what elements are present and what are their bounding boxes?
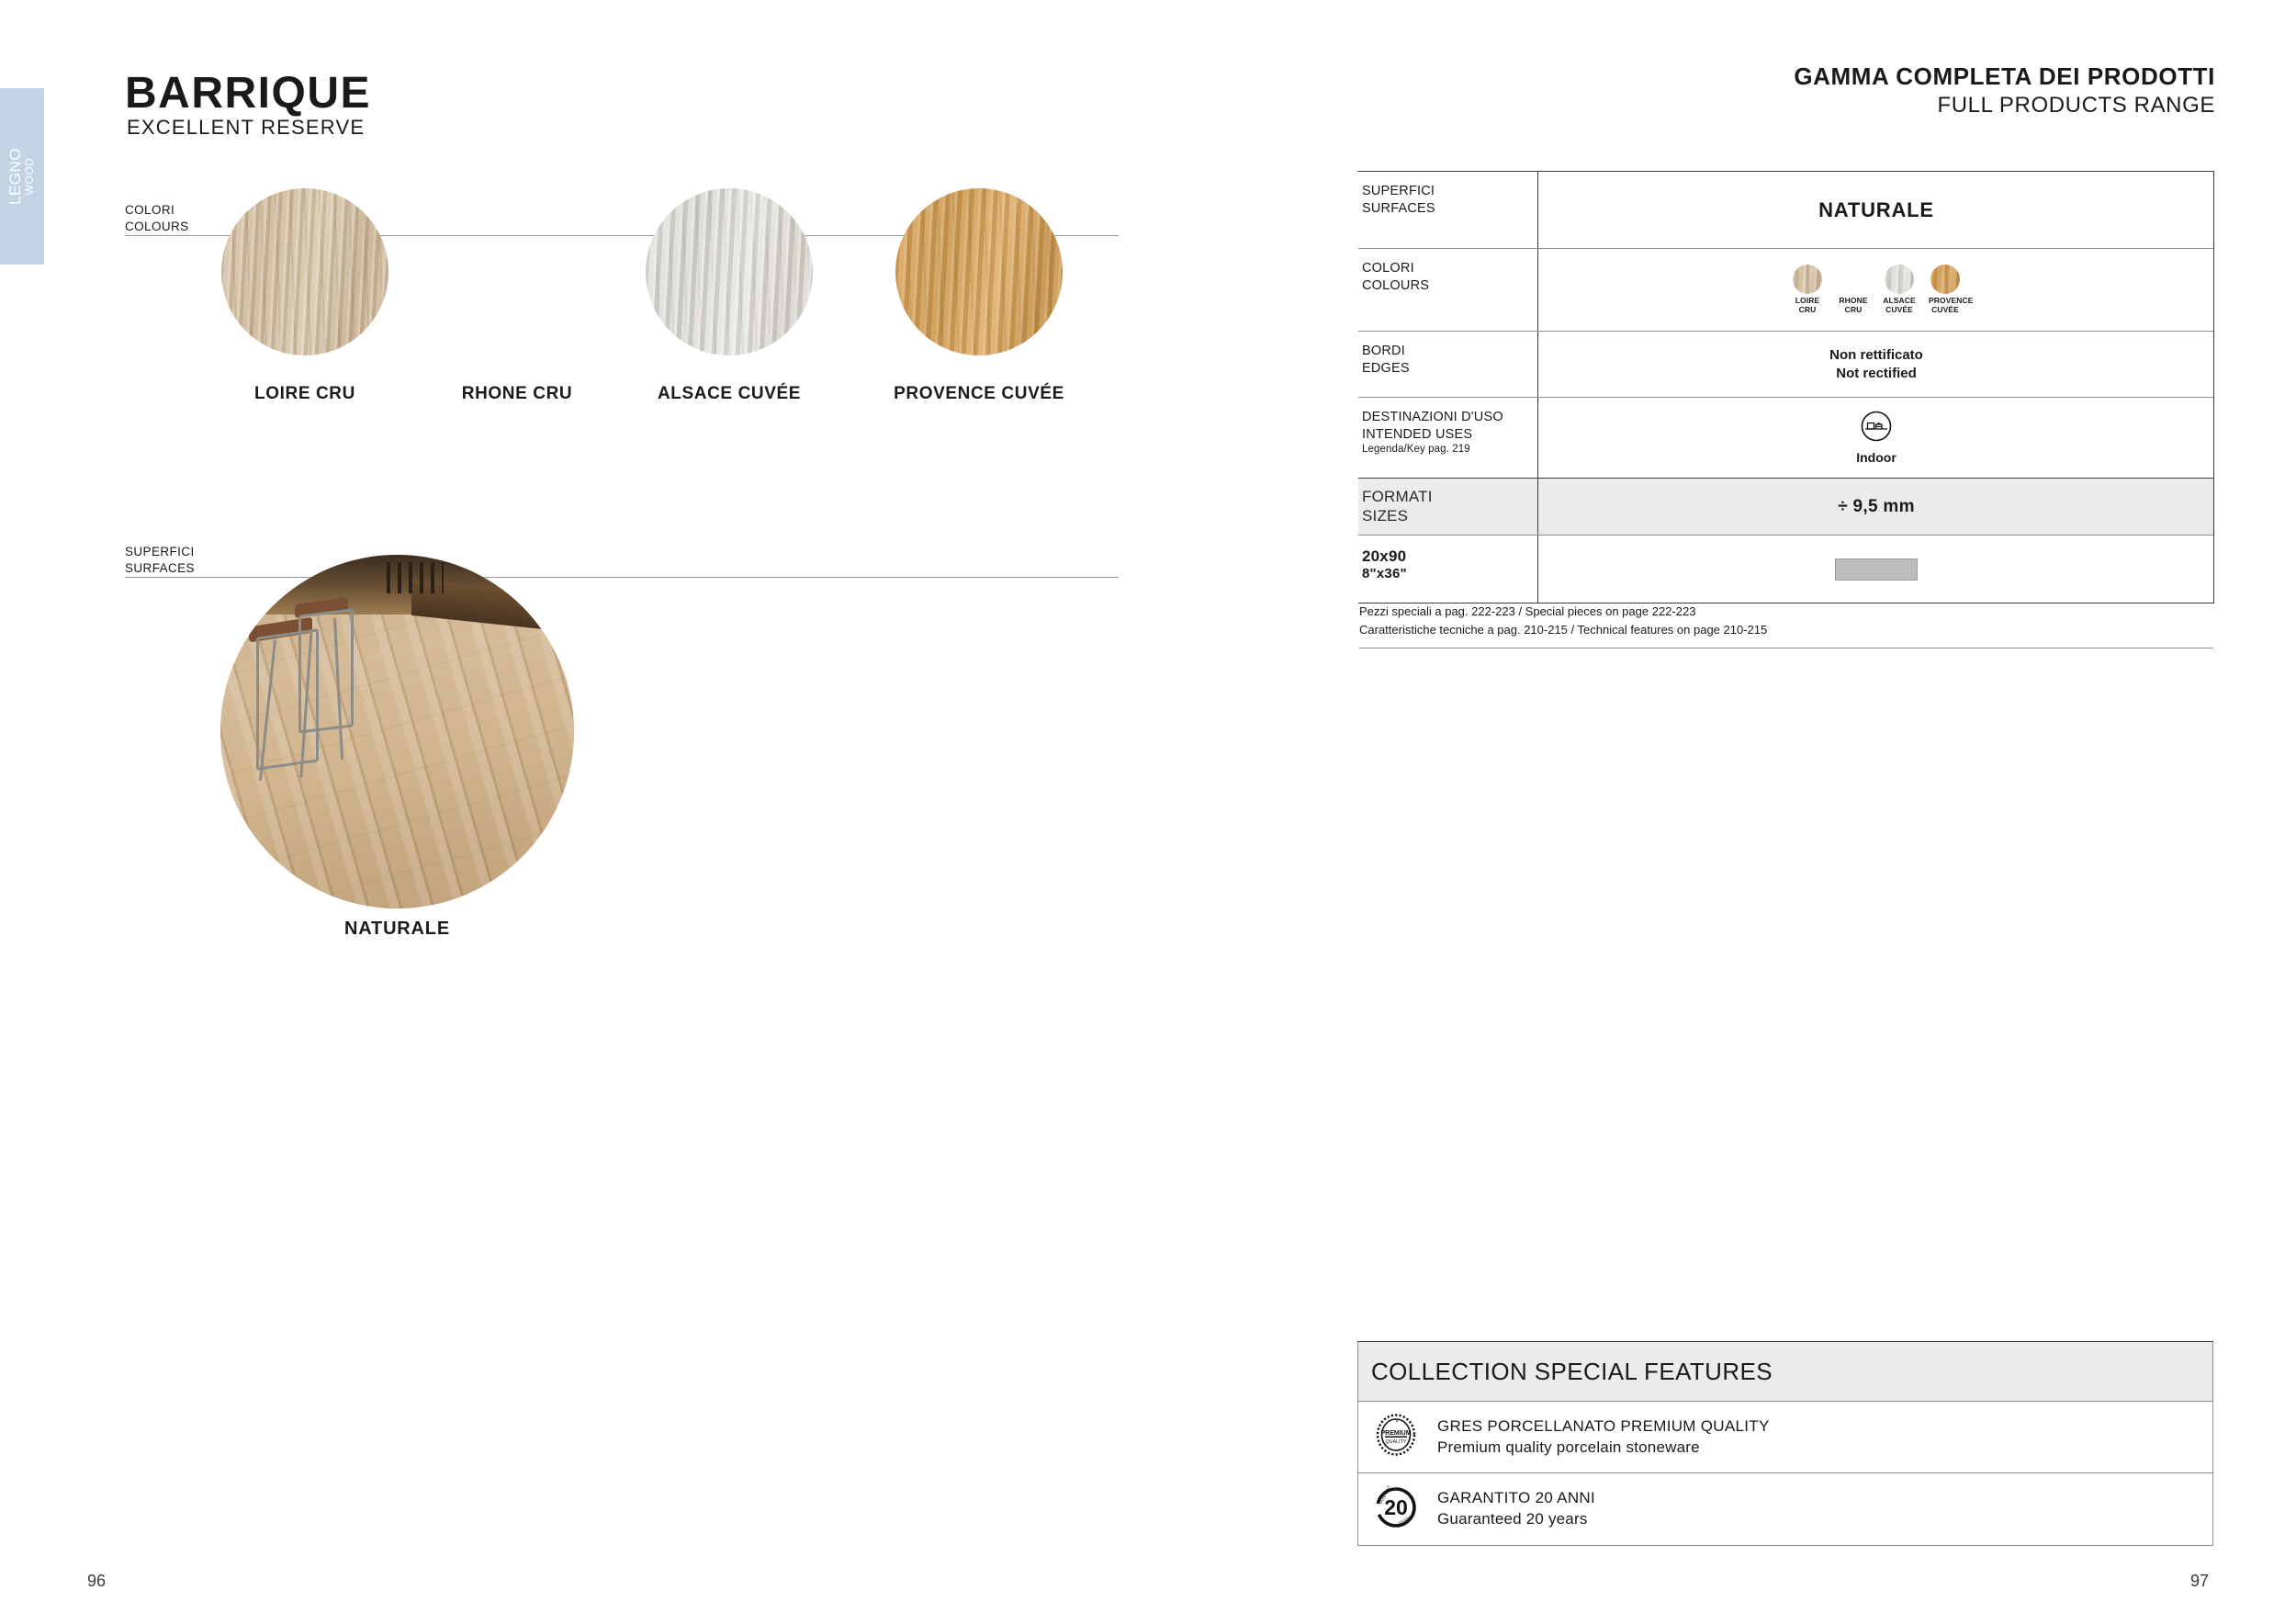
colour-caption-rhone-cru: RHONE CRU: [411, 384, 623, 404]
colours-section-label: COLORI COLOURS: [125, 202, 189, 235]
table-value-intended-uses: Indoor: [1538, 398, 2214, 478]
colour-swatch-provence-cuvee: [895, 188, 1063, 355]
table-footnotes: Pezzi speciali a pag. 222-223 / Special …: [1359, 603, 2213, 648]
table-label-surfaces: SUPERFICI SURFACES: [1358, 172, 1538, 248]
feature-row-guarantee-20-years: 20 GUARANTEE YEARS GARANTITO 20 ANNI Gua…: [1358, 1473, 2212, 1545]
feature-title-en: Premium quality porcelain stoneware: [1437, 1438, 1770, 1459]
mini-swatch-alsace-cuvee: ALSACE CUVÉE: [1883, 265, 1916, 315]
footnote-technical-features: Caratteristiche tecniche a pag. 210-215 …: [1359, 621, 2213, 639]
catalog-spread: LEGNO WOOD BARRIQUE EXCELLENT RESERVE CO…: [0, 0, 2296, 1624]
products-range-title-it: GAMMA COMPLETA DEI PRODOTTI: [1794, 62, 2215, 91]
table-label-size: 20x90 8"x36": [1358, 536, 1538, 603]
table-value-size-bar: [1538, 536, 2214, 603]
size-format-bar: [1835, 558, 1918, 581]
indoor-icon: [1861, 411, 1892, 446]
table-row-edges: BORDI EDGES Non rettificato Not rectifie…: [1358, 332, 2214, 398]
indoor-label: Indoor: [1856, 450, 1896, 465]
feature-title-en: Guaranteed 20 years: [1437, 1509, 1595, 1530]
mini-swatch-dot: [1793, 265, 1822, 294]
svg-text:PREMIUM: PREMIUM: [1380, 1430, 1411, 1437]
svg-text:QUALITY: QUALITY: [1385, 1439, 1406, 1445]
table-value-colours: LOIRE CRU RHONE CRU ALSACE CUVÉE: [1538, 249, 2214, 331]
page-number-right: 97: [2190, 1572, 2209, 1591]
surface-photo-naturale: [220, 555, 574, 908]
table-row-size-20x90: 20x90 8"x36": [1358, 536, 2214, 603]
colour-caption-alsace-cuvee: ALSACE CUVÉE: [624, 384, 835, 404]
table-label-formats: FORMATI SIZES: [1358, 479, 1538, 535]
premium-quality-seal-icon: PREMIUM QUALITY: [1375, 1414, 1417, 1460]
table-row-colours: COLORI COLOURS LOIRE CRU RHONE CRU: [1358, 249, 2214, 332]
table-value-thickness: ÷ 9,5 mm: [1538, 479, 2214, 535]
colour-caption-loire-cru: LOIRE CRU: [199, 384, 411, 404]
table-row-intended-uses: DESTINAZIONI D'USO INTENDED USES Legenda…: [1358, 398, 2214, 479]
table-value-edges: Non rettificato Not rectified: [1538, 332, 2214, 397]
collection-subtitle: EXCELLENT RESERVE: [127, 118, 365, 138]
mini-swatch-loire-cru: LOIRE CRU: [1791, 265, 1824, 315]
collection-title: BARRIQUE: [125, 72, 371, 116]
feature-title-it: GARANTITO 20 ANNI: [1437, 1488, 1595, 1509]
surface-caption-naturale: NATURALE: [220, 919, 574, 940]
products-range-title-en: FULL PRODUCTS RANGE: [1937, 93, 2215, 118]
colour-swatch-rhone-cru: [433, 188, 601, 355]
mini-swatch-rhone-cru: RHONE CRU: [1837, 265, 1870, 315]
mini-swatch-dot: [1885, 265, 1914, 294]
mini-swatch-group: LOIRE CRU RHONE CRU ALSACE CUVÉE: [1791, 265, 1962, 315]
products-range-table: SUPERFICI SURFACES NATURALE COLORI COLOU…: [1357, 171, 2214, 603]
table-value-surface-naturale: NATURALE: [1538, 172, 2214, 248]
table-label-intended-uses: DESTINAZIONI D'USO INTENDED USES Legenda…: [1358, 398, 1538, 478]
footnote-special-pieces: Pezzi speciali a pag. 222-223 / Special …: [1359, 603, 2213, 621]
colour-caption-provence-cuvee: PROVENCE CUVÉE: [873, 384, 1085, 404]
surfaces-section-label: SUPERFICI SURFACES: [125, 544, 195, 577]
collection-special-features: COLLECTION SPECIAL FEATURES PREMIUM QUAL…: [1357, 1341, 2213, 1546]
section-tab-label-en: WOOD: [24, 148, 37, 205]
colour-swatch-loire-cru: [221, 188, 388, 355]
table-row-formats: FORMATI SIZES ÷ 9,5 mm: [1358, 479, 2214, 536]
guarantee-20-years-icon: 20 GUARANTEE YEARS: [1375, 1486, 1417, 1533]
page-number-left: 96: [87, 1572, 106, 1591]
mini-swatch-provence-cuvee: PROVENCE CUVÉE: [1929, 265, 1962, 315]
feature-row-premium-quality: PREMIUM QUALITY GRES PORCELLANATO PREMIU…: [1358, 1402, 2212, 1473]
mini-swatch-dot: [1930, 265, 1960, 294]
special-features-heading: COLLECTION SPECIAL FEATURES: [1358, 1342, 2212, 1402]
feature-title-it: GRES PORCELLANATO PREMIUM QUALITY: [1437, 1416, 1770, 1438]
table-label-colours: COLORI COLOURS: [1358, 249, 1538, 331]
mini-swatch-dot: [1839, 265, 1868, 294]
colour-swatch-alsace-cuvee: [646, 188, 813, 355]
section-tab-legno-wood: LEGNO WOOD: [0, 88, 44, 265]
table-row-surfaces: SUPERFICI SURFACES NATURALE: [1358, 172, 2214, 249]
section-tab-label-it: LEGNO: [7, 148, 24, 205]
table-label-edges: BORDI EDGES: [1358, 332, 1538, 397]
svg-text:20: 20: [1384, 1495, 1408, 1519]
